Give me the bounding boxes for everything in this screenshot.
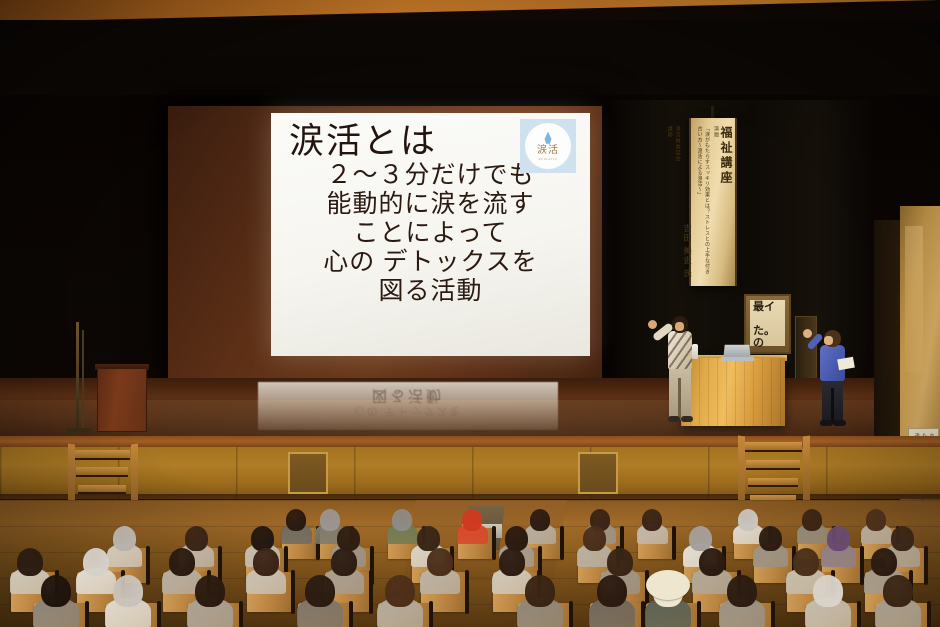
audience-member-head xyxy=(337,526,360,551)
logo-subtext: RUIKATSU xyxy=(539,157,558,161)
audience-member-head xyxy=(385,575,415,607)
laptop-base xyxy=(721,357,754,361)
stair-step xyxy=(746,460,800,470)
seat-post xyxy=(560,526,564,560)
audience-member-head xyxy=(793,548,819,576)
whiteboard-line-2: た。の xyxy=(753,326,785,349)
apron-vent-left xyxy=(288,452,328,494)
banner-speaker-label: 講師 xyxy=(666,126,673,278)
slide-line-5: 図る活動 xyxy=(281,277,580,306)
auditorium-scene: 涙活とは 涙活 RUIKATSU ２〜３分だけでも 能動的に涙を流す ことによっ… xyxy=(0,0,940,627)
event-banner: 福祉講座 演題 「涙がもたらすスッキリ効果とは？ストレスとの上手な付き合い方〜涙… xyxy=(689,118,737,286)
seat-post xyxy=(924,546,928,585)
audience-member-head xyxy=(113,526,136,551)
ruikatsu-logo: 涙活 RUIKATSU xyxy=(520,119,576,173)
seat-post xyxy=(697,601,701,627)
seat-post xyxy=(771,601,775,627)
audience-member-head xyxy=(583,526,606,551)
banner-title: 福祉講座 xyxy=(720,126,732,278)
logo-text: 涙活 xyxy=(537,146,559,156)
banner-topic-label: 演題 xyxy=(712,126,719,278)
microphone-stand-base xyxy=(66,428,92,433)
microphone-stand-secondary xyxy=(82,330,84,430)
projection-screen: 涙活とは 涙活 RUIKATSU ２〜３分だけでも 能動的に涙を流す ことによっ… xyxy=(271,113,590,356)
audience-member-head xyxy=(169,548,195,576)
audience-member-head xyxy=(525,575,555,607)
seat-post xyxy=(157,601,161,627)
seat-post xyxy=(429,601,433,627)
audience-member-head xyxy=(41,575,71,607)
slide-line-4: 心の デトックスを xyxy=(281,248,580,277)
audience-member-head xyxy=(17,548,43,576)
seat-post xyxy=(569,601,573,627)
seat-post xyxy=(369,570,373,614)
slide-line-2: 能動的に涙を流す xyxy=(281,190,580,219)
audience-member-head xyxy=(505,526,528,551)
audience-member-head xyxy=(251,526,274,551)
audience-member-hat xyxy=(646,570,690,600)
audience-member-head xyxy=(320,509,340,531)
audience-member-head xyxy=(891,526,914,551)
apron-vent-right xyxy=(578,452,618,494)
presenter-right xyxy=(812,330,854,426)
audience-member-head xyxy=(113,575,143,607)
audience-member-head xyxy=(727,575,757,607)
seat-post xyxy=(492,526,496,560)
slide-body: ２〜３分だけでも 能動的に涙を流す ことによって 心の デトックスを 図る活動 xyxy=(281,161,580,306)
microphone-stand xyxy=(76,322,79,430)
seat-post xyxy=(672,526,676,560)
banner-speaker-name: 吉田 美史 氏 xyxy=(682,224,692,279)
whiteboard-sheet: 最イ た。の xyxy=(750,300,785,346)
audience-member-head xyxy=(253,548,279,576)
slide-line-3: ことによって xyxy=(281,219,580,248)
stage-whiteboard: 最イ た。の xyxy=(744,294,791,354)
audience-member-head xyxy=(642,509,662,531)
audience-member-head xyxy=(195,575,225,607)
seat-post xyxy=(465,570,469,614)
stair-step xyxy=(748,478,798,488)
audience-member-head xyxy=(462,509,482,531)
audience-member-head xyxy=(827,526,850,551)
wooden-lectern xyxy=(97,368,147,432)
seat-post xyxy=(291,570,295,614)
audience-member-head xyxy=(866,509,886,531)
audience-member-head xyxy=(883,575,913,607)
seat-post xyxy=(349,601,353,627)
audience-member-head xyxy=(871,548,897,576)
audience-member-head xyxy=(417,526,440,551)
stair-step xyxy=(744,442,802,452)
audience-member-head xyxy=(286,509,306,531)
presenter-left xyxy=(660,316,702,422)
audience-member-head xyxy=(689,526,712,551)
banner-subtitle: 「涙がもたらすスッキリ効果とは？ストレスとの上手な付き合い方〜涙活による涙活〜」 xyxy=(695,126,710,276)
audience-member-head xyxy=(392,509,412,531)
audience-member-head xyxy=(699,548,725,576)
banner-speaker-affiliation: 涙活推進協会 xyxy=(674,126,681,278)
teardrop-icon xyxy=(544,132,553,145)
stair-step xyxy=(74,450,130,460)
whiteboard-line-1: 最イ xyxy=(753,302,775,314)
audience-member-head xyxy=(427,548,453,576)
audience-member-head xyxy=(759,526,782,551)
right-wall-highlight xyxy=(905,226,923,372)
seat-post xyxy=(641,601,645,627)
audience-member-head xyxy=(813,575,843,607)
audience-member-head xyxy=(305,575,335,607)
audience-member-head xyxy=(597,575,627,607)
audience-member-head xyxy=(83,548,109,576)
stair-step xyxy=(76,467,128,477)
stair-step xyxy=(78,485,126,495)
seat-post xyxy=(146,546,150,585)
audience-member-head xyxy=(530,509,550,531)
seat-post xyxy=(857,601,861,627)
audience-member-head xyxy=(499,548,525,576)
seat-post xyxy=(239,601,243,627)
audience-member-head xyxy=(802,509,822,531)
seat-post xyxy=(85,601,89,627)
seat-post xyxy=(927,601,931,627)
audience-member-head xyxy=(607,548,633,576)
audience-member-head xyxy=(331,548,357,576)
audience-member-head xyxy=(738,509,758,531)
audience-member-head xyxy=(185,526,208,551)
